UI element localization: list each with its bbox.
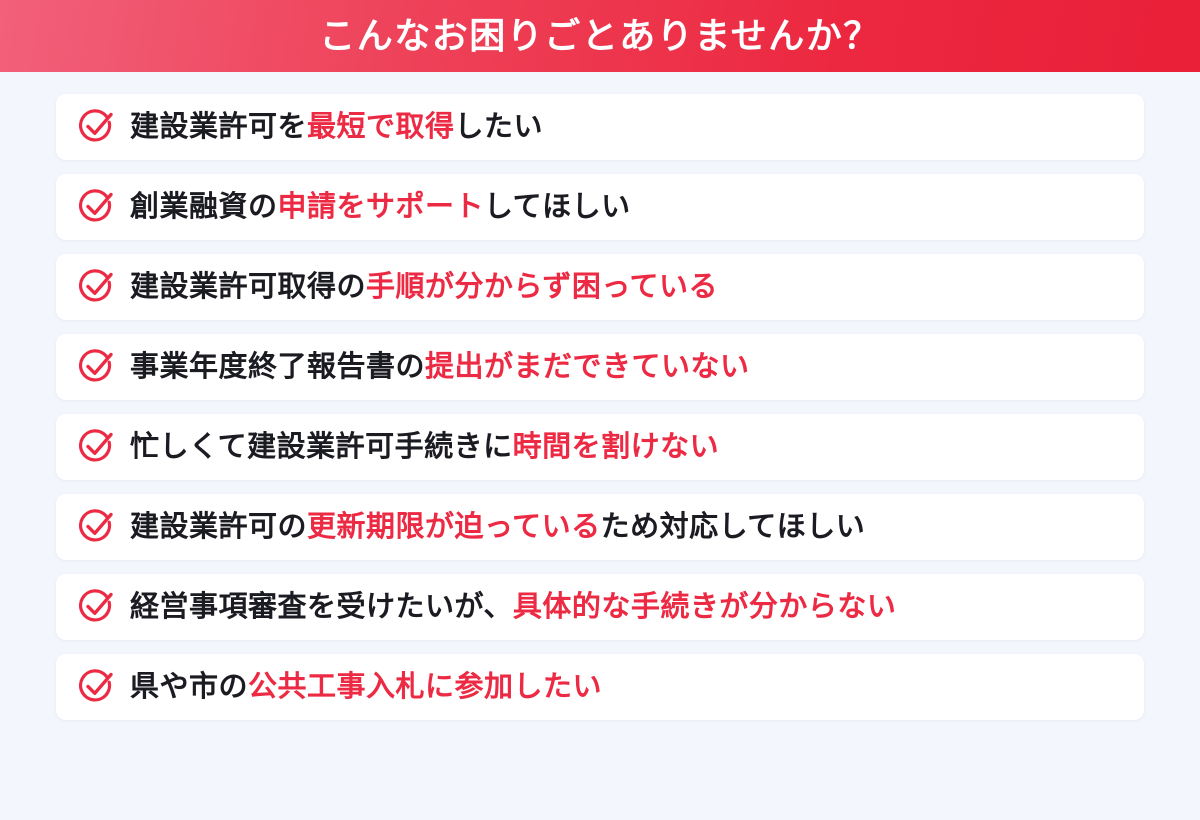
- check-circle-icon: [76, 507, 116, 547]
- list-item-text: 県や市の公共工事入札に参加したい: [130, 673, 602, 702]
- list-item-text: 建設業許可を最短で取得したい: [130, 113, 543, 142]
- check-circle-icon: [76, 347, 116, 387]
- list-item-text: 創業融資の申請をサポートしてほしい: [130, 193, 631, 222]
- plain-text: したい: [455, 111, 544, 143]
- check-circle-icon: [76, 267, 116, 307]
- highlighted-text: 公共工事入札に参加したい: [248, 671, 602, 703]
- check-circle-icon: [76, 667, 116, 707]
- page-root: こんなお困りごとありませんか？ 建設業許可を最短で取得したい創業融資の申請をサポ…: [0, 0, 1200, 820]
- highlighted-text: 更新期限が迫っている: [307, 511, 601, 543]
- plain-text: してほしい: [484, 191, 631, 223]
- plain-text: 創業融資の: [130, 191, 278, 223]
- list-item: 創業融資の申請をサポートしてほしい: [56, 174, 1144, 240]
- check-circle-icon: [76, 187, 116, 227]
- list-item-text: 建設業許可の更新期限が迫っているため対応してほしい: [130, 513, 865, 542]
- plain-text: 経営事項審査を受けたいが、: [130, 591, 513, 623]
- list-item: 県や市の公共工事入札に参加したい: [56, 654, 1144, 720]
- list-item-text: 経営事項審査を受けたいが、具体的な手続きが分からない: [130, 593, 896, 622]
- check-circle-icon: [76, 107, 116, 147]
- list-item: 建設業許可の更新期限が迫っているため対応してほしい: [56, 494, 1144, 560]
- plain-text: 県や市の: [130, 671, 248, 703]
- list-item-text: 事業年度終了報告書の提出がまだできていない: [130, 353, 750, 382]
- plain-text: 事業年度終了報告書の: [130, 351, 425, 383]
- plain-text: 建設業許可を: [130, 111, 307, 143]
- plain-text: 建設業許可取得の: [130, 271, 366, 303]
- list-item: 建設業許可取得の手順が分からず困っている: [56, 254, 1144, 320]
- plain-text: 忙しくて建設業許可手続きに: [130, 431, 513, 463]
- highlighted-text: 具体的な手続きが分からない: [513, 591, 897, 623]
- list-item-text: 忙しくて建設業許可手続きに時間を割けない: [130, 433, 719, 462]
- list-item: 忙しくて建設業許可手続きに時間を割けない: [56, 414, 1144, 480]
- check-circle-icon: [76, 427, 116, 467]
- highlighted-text: 提出がまだできていない: [425, 351, 750, 383]
- check-circle-icon: [76, 587, 116, 627]
- highlighted-text: 時間を割けない: [513, 431, 720, 463]
- plain-text: ため対応してほしい: [601, 511, 866, 543]
- list-item: 事業年度終了報告書の提出がまだできていない: [56, 334, 1144, 400]
- list-item: 経営事項審査を受けたいが、具体的な手続きが分からない: [56, 574, 1144, 640]
- highlighted-text: 申請をサポート: [278, 191, 485, 223]
- list-item: 建設業許可を最短で取得したい: [56, 94, 1144, 160]
- plain-text: 建設業許可の: [130, 511, 307, 543]
- highlighted-text: 手順が分からず困っている: [366, 271, 718, 303]
- page-title: こんなお困りごとありませんか？: [319, 18, 880, 54]
- concerns-list: 建設業許可を最短で取得したい創業融資の申請をサポートしてほしい建設業許可取得の手…: [0, 72, 1200, 720]
- header-banner: こんなお困りごとありませんか？: [0, 0, 1200, 72]
- highlighted-text: 最短で取得: [307, 111, 455, 143]
- list-item-text: 建設業許可取得の手順が分からず困っている: [130, 273, 718, 302]
